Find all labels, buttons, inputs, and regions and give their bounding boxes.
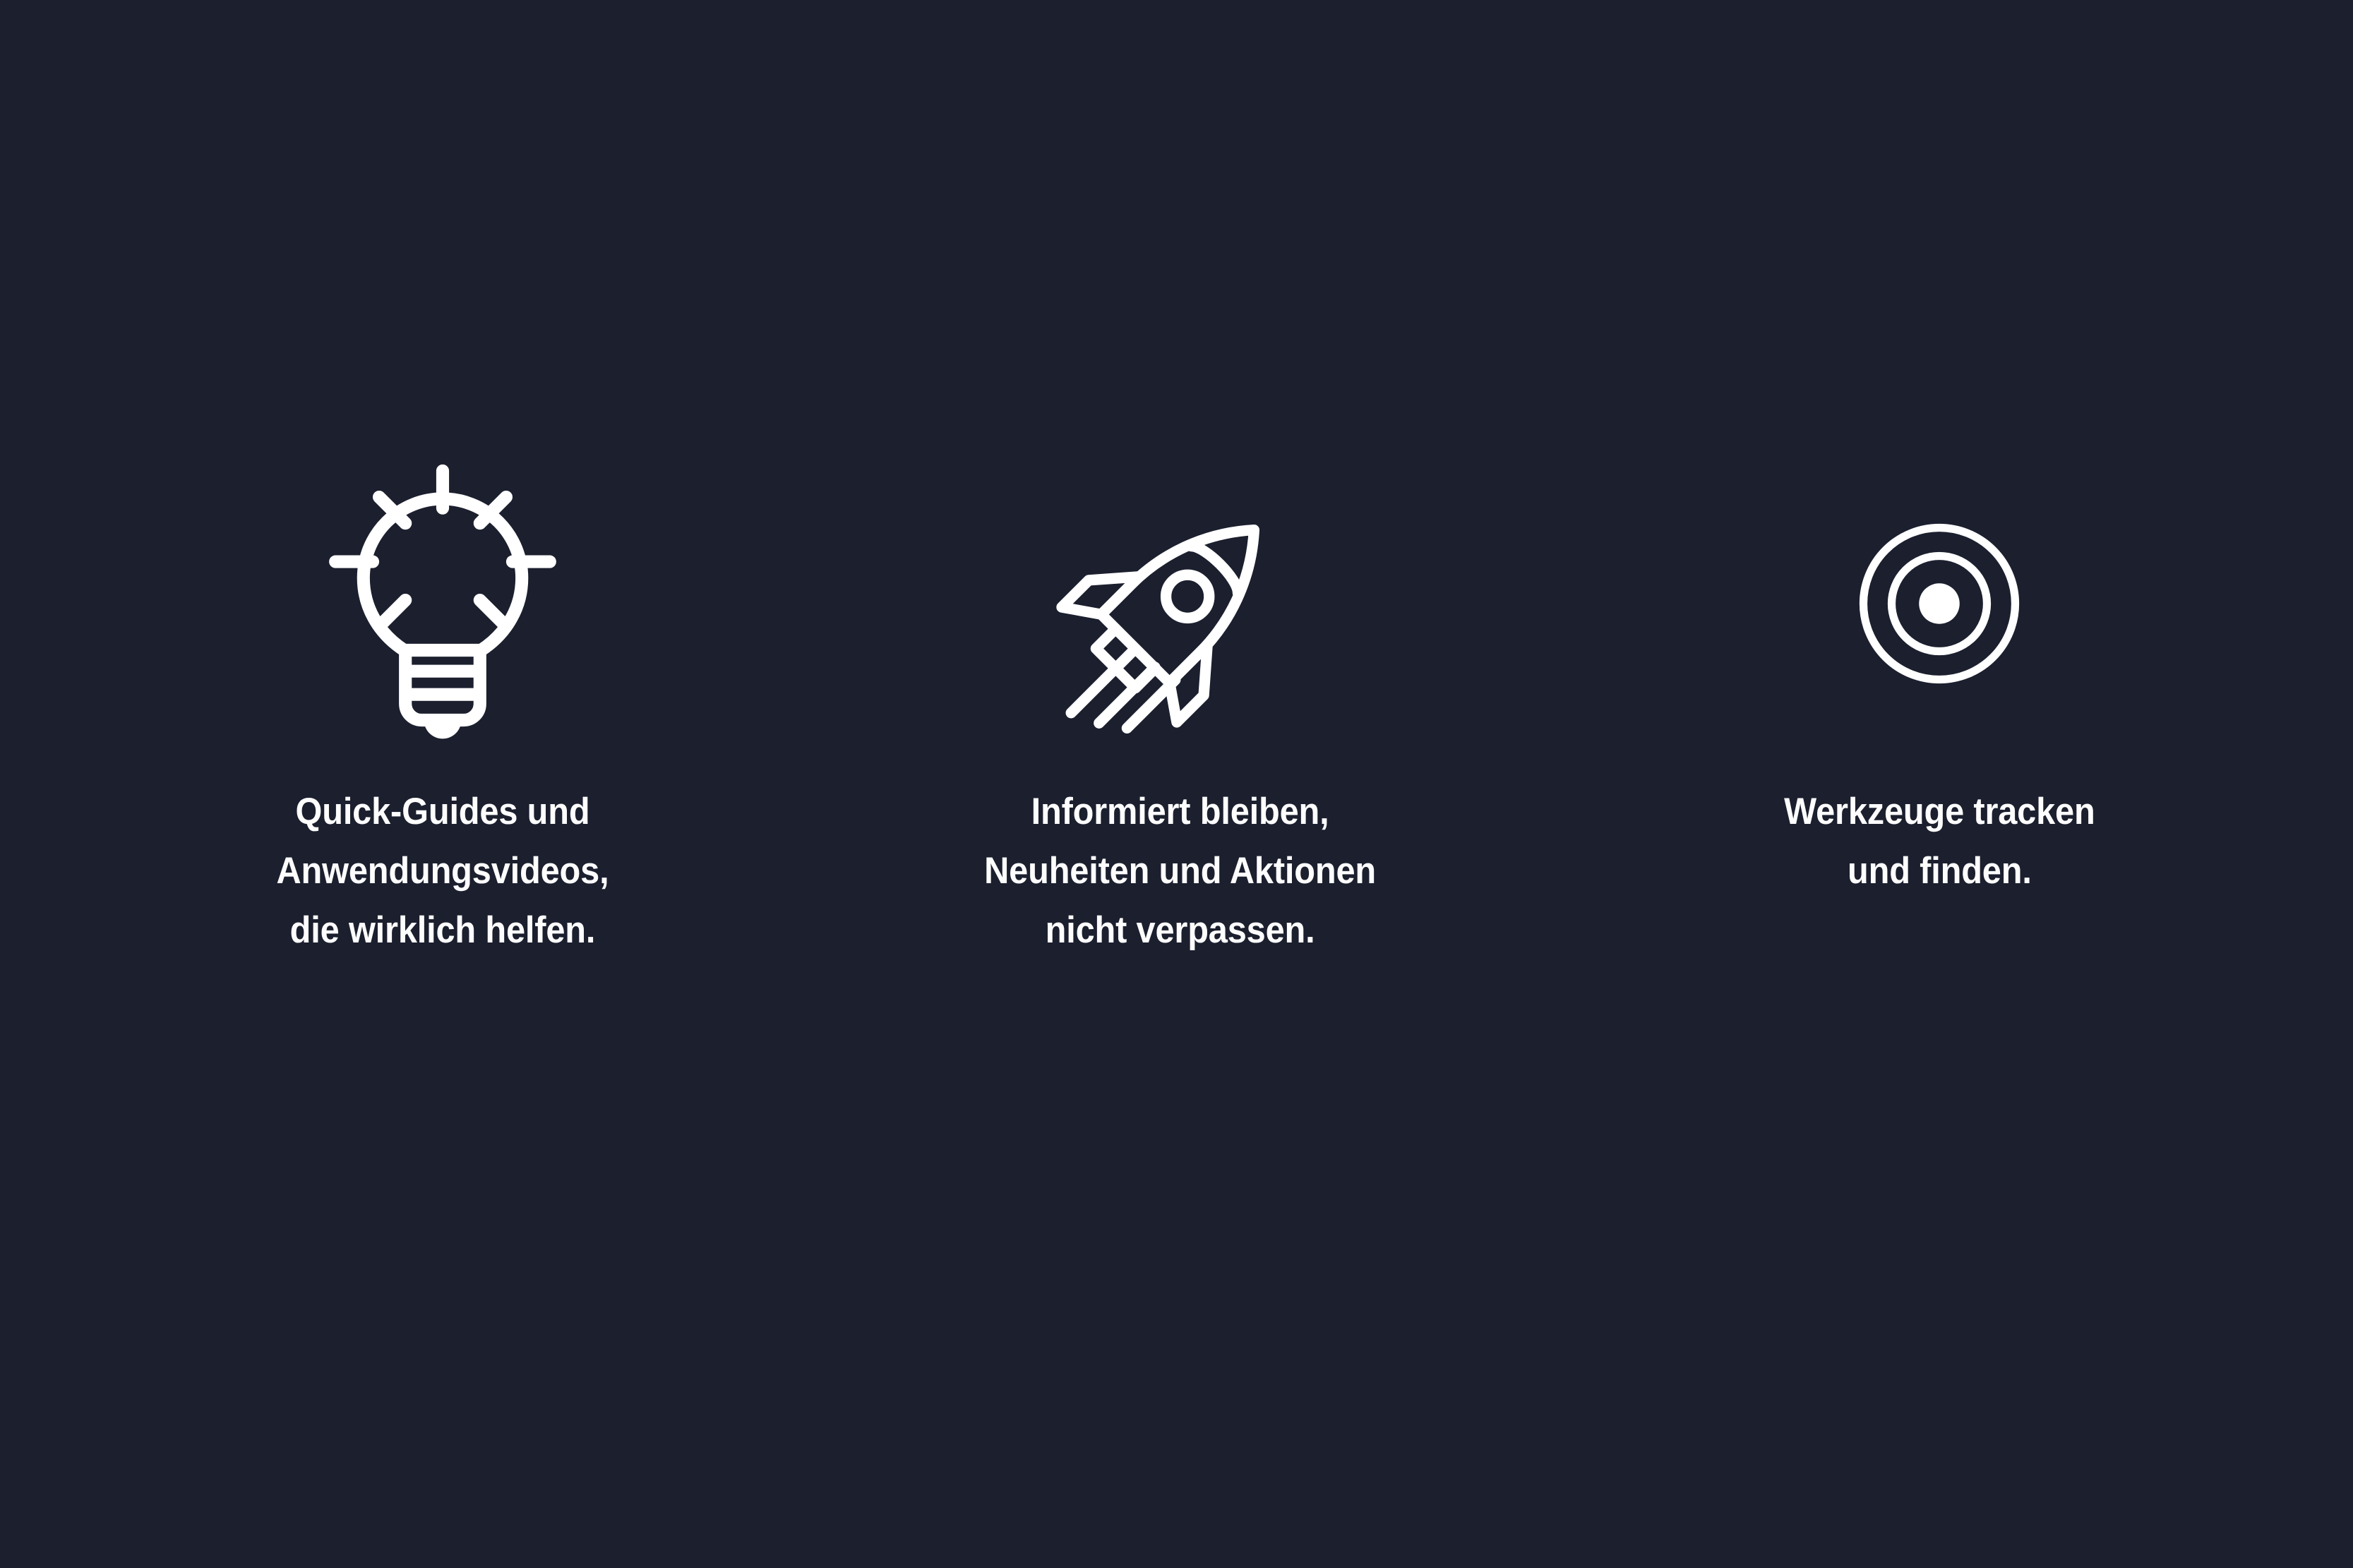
- feature-card-newsletter[interactable]: Informiert bleiben, Neuheiten und Aktion…: [827, 452, 1533, 960]
- feature-caption-tool-tracking: Werkzeuge tracken und finden.: [1784, 782, 2095, 901]
- caption-line: nicht verpassen.: [985, 901, 1377, 960]
- caption-line: Werkzeuge tracken: [1784, 782, 2095, 842]
- feature-caption-newsletter: Informiert bleiben, Neuheiten und Aktion…: [985, 782, 1377, 960]
- lightbulb-icon-wrapper: [326, 452, 559, 755]
- lightbulb-icon: [326, 462, 559, 745]
- caption-line: Informiert bleiben,: [985, 782, 1377, 842]
- rocket-icon-wrapper: [1053, 452, 1307, 755]
- feature-highlights-section: Quick-Guides und Anwendungsvideos, die w…: [0, 0, 2353, 1568]
- feature-card-tool-tracking[interactable]: Werkzeuge tracken und finden.: [1586, 452, 2292, 901]
- target-icon-wrapper: [1851, 452, 2028, 755]
- caption-line: und finden.: [1784, 842, 2095, 901]
- feature-caption-quick-guides: Quick-Guides und Anwendungsvideos, die w…: [277, 782, 609, 960]
- feature-card-quick-guides[interactable]: Quick-Guides und Anwendungsvideos, die w…: [58, 452, 827, 960]
- caption-line: Anwendungsvideos,: [277, 842, 609, 901]
- caption-line: Neuheiten und Aktionen: [985, 842, 1377, 901]
- target-icon: [1851, 515, 2028, 692]
- rocket-icon: [1053, 477, 1307, 731]
- caption-line: Quick-Guides und: [277, 782, 609, 842]
- feature-row: Quick-Guides und Anwendungsvideos, die w…: [0, 452, 2353, 960]
- caption-line: die wirklich helfen.: [277, 901, 609, 960]
